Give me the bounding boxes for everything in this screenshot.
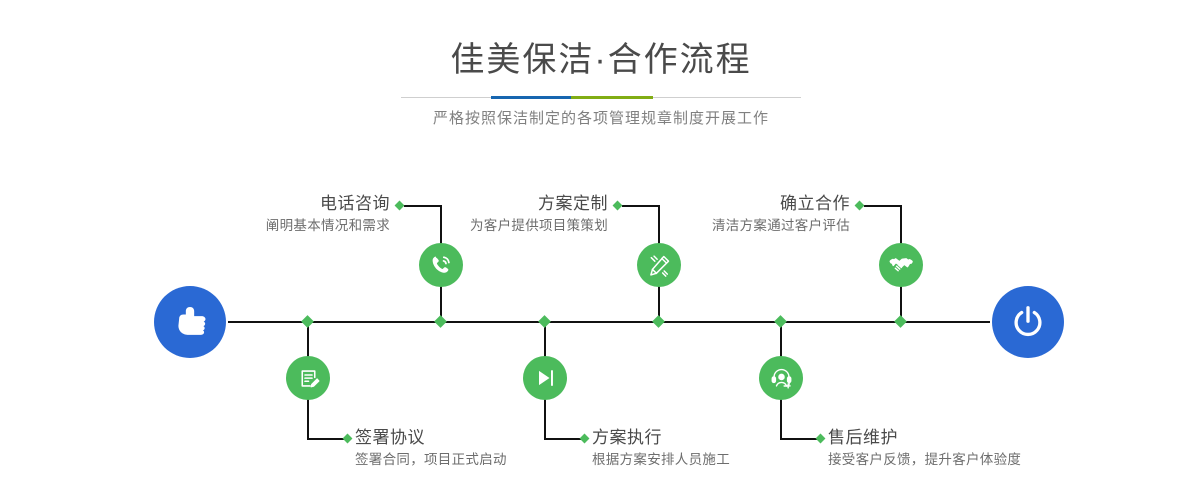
step-label-4: 方案执行 根据方案安排人员施工 [592,427,730,470]
page-title: 佳美保洁·合作流程 [0,38,1202,82]
step-desc-2: 签署合同，项目正式启动 [355,449,507,470]
step-label-2: 签署协议 签署合同，项目正式启动 [355,427,507,470]
axis-diamond-5 [894,315,907,328]
step-title-5: 确立合作 [640,193,850,215]
phone-call-icon [428,252,454,278]
step-desc-4: 根据方案安排人员施工 [592,449,730,470]
step-title-1: 电话咨询 [150,193,390,215]
handshake-icon [888,252,914,278]
step-icon-handshake [879,243,923,287]
pen-design-icon [647,253,672,278]
step-title-4: 方案执行 [592,427,730,449]
timeline-axis [228,321,990,323]
pointing-hand-icon [170,302,210,342]
process-flow-infographic: 佳美保洁·合作流程 严格按照保洁制定的各项管理规章制度开展工作 [0,0,1202,502]
step-title-6: 售后维护 [828,427,1021,449]
step-desc-3: 为客户提供项目策策划 [400,215,608,236]
connector-elbow-5 [864,205,902,207]
step-desc-5: 清洁方案通过客户评估 [640,215,850,236]
step-desc-6: 接受客户反馈，提升客户体验度 [828,449,1021,470]
axis-diamond-6 [774,315,787,328]
connector-diamond-6 [816,434,826,444]
connector-diamond-4 [580,434,590,444]
step-label-6: 售后维护 接受客户反馈，提升客户体验度 [828,427,1021,470]
customer-support-icon [769,366,794,391]
axis-diamond-3 [652,315,665,328]
step-label-5: 确立合作 清洁方案通过客户评估 [640,193,850,236]
connector-elbow-6 [780,438,820,440]
axis-diamond-4 [538,315,551,328]
step-title-2: 签署协议 [355,427,507,449]
power-icon [1009,303,1047,341]
signed-document-icon [296,366,321,391]
step-icon-signed-document [286,356,330,400]
connector-elbow-1 [404,205,442,207]
connector-elbow-2 [307,438,347,440]
step-title-3: 方案定制 [400,193,608,215]
divider-segment-green [571,96,653,99]
timeline-start-node [154,286,226,358]
connector-diamond-5 [855,201,865,211]
axis-diamond-1 [434,315,447,328]
step-icon-pen-design [637,243,681,287]
step-icon-phone-call [419,243,463,287]
timeline-end-node [992,286,1064,358]
step-icon-customer-support [759,356,803,400]
play-execute-icon [533,366,557,390]
divider-segment-blue [491,96,571,99]
connector-elbow-4 [544,438,584,440]
connector-diamond-2 [343,434,353,444]
connector-diamond-3 [613,201,623,211]
connector-elbow-3 [622,205,660,207]
step-label-1: 电话咨询 阐明基本情况和需求 [150,193,390,236]
page-subtitle: 严格按照保洁制定的各项管理规章制度开展工作 [0,107,1202,131]
step-desc-1: 阐明基本情况和需求 [150,215,390,236]
title-divider [401,96,801,99]
axis-diamond-2 [301,315,314,328]
step-label-3: 方案定制 为客户提供项目策策划 [400,193,608,236]
step-icon-play-execute [523,356,567,400]
